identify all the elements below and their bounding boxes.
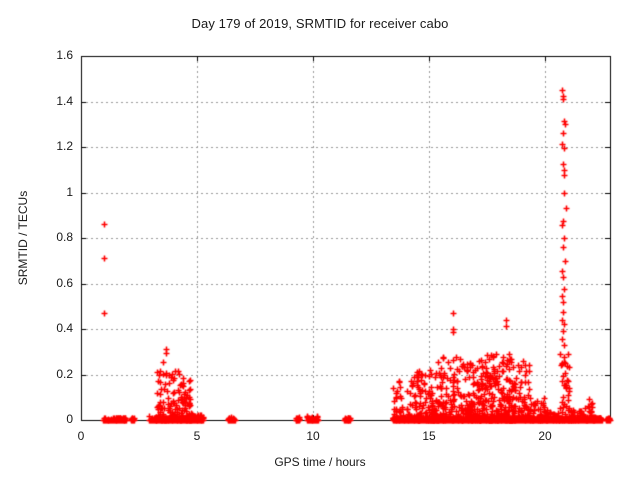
- x-tick-label: 0: [51, 429, 111, 443]
- y-tick-label: 1.4: [15, 94, 73, 108]
- x-tick-label: 10: [283, 429, 343, 443]
- y-tick-label: 1.2: [15, 139, 73, 153]
- x-tick-label: 20: [515, 429, 575, 443]
- y-tick-label: 0.4: [15, 321, 73, 335]
- y-tick-label: 1.6: [15, 48, 73, 62]
- x-tick-label: 5: [167, 429, 227, 443]
- y-tick-label: 0: [15, 412, 73, 426]
- chart-figure: Day 179 of 2019, SRMTID for receiver cab…: [0, 0, 640, 480]
- scatter-plot-canvas: [0, 0, 640, 480]
- x-axis-label: GPS time / hours: [0, 455, 640, 469]
- y-tick-label: 0.8: [15, 230, 73, 244]
- y-tick-label: 0.6: [15, 276, 73, 290]
- x-tick-label: 15: [399, 429, 459, 443]
- y-tick-label: 0.2: [15, 367, 73, 381]
- y-tick-label: 1: [15, 185, 73, 199]
